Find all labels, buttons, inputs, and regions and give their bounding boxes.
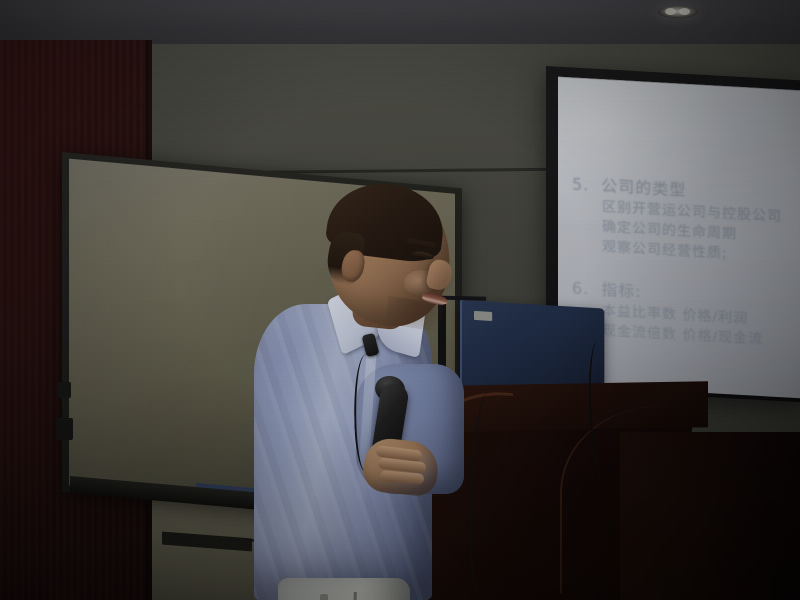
ceiling-light-bulb-left	[665, 8, 676, 15]
whiteboard-bracket-top	[58, 382, 71, 398]
ceiling-light-bulb-right	[679, 8, 690, 15]
slide-title-5: 公司的类型	[601, 176, 686, 200]
whiteboard-bracket-bottom	[56, 418, 73, 440]
slide-number-5: 5.	[572, 174, 589, 194]
trousers-belt-loop	[320, 594, 328, 600]
ceiling-light-icon	[658, 6, 698, 18]
lecture-photo-scene: 5.公司的类型 区别开营运公司与控股公司 确定公司的生命周期 观察公司经营性质;…	[0, 0, 800, 600]
slide-block-5: 5.公司的类型 区别开营运公司与控股公司 确定公司的生命周期 观察公司经营性质;	[572, 173, 800, 268]
slide-number-6: 6.	[572, 278, 589, 298]
laptop-badge	[474, 311, 492, 321]
presenter-trousers	[278, 578, 410, 600]
presenter-figure	[236, 196, 466, 600]
slide-block-6: 6.指标: 本益比率数 价格/利润 现金流倍数 价格/现金流	[572, 277, 800, 352]
slide-title-6: 指标:	[601, 280, 641, 301]
